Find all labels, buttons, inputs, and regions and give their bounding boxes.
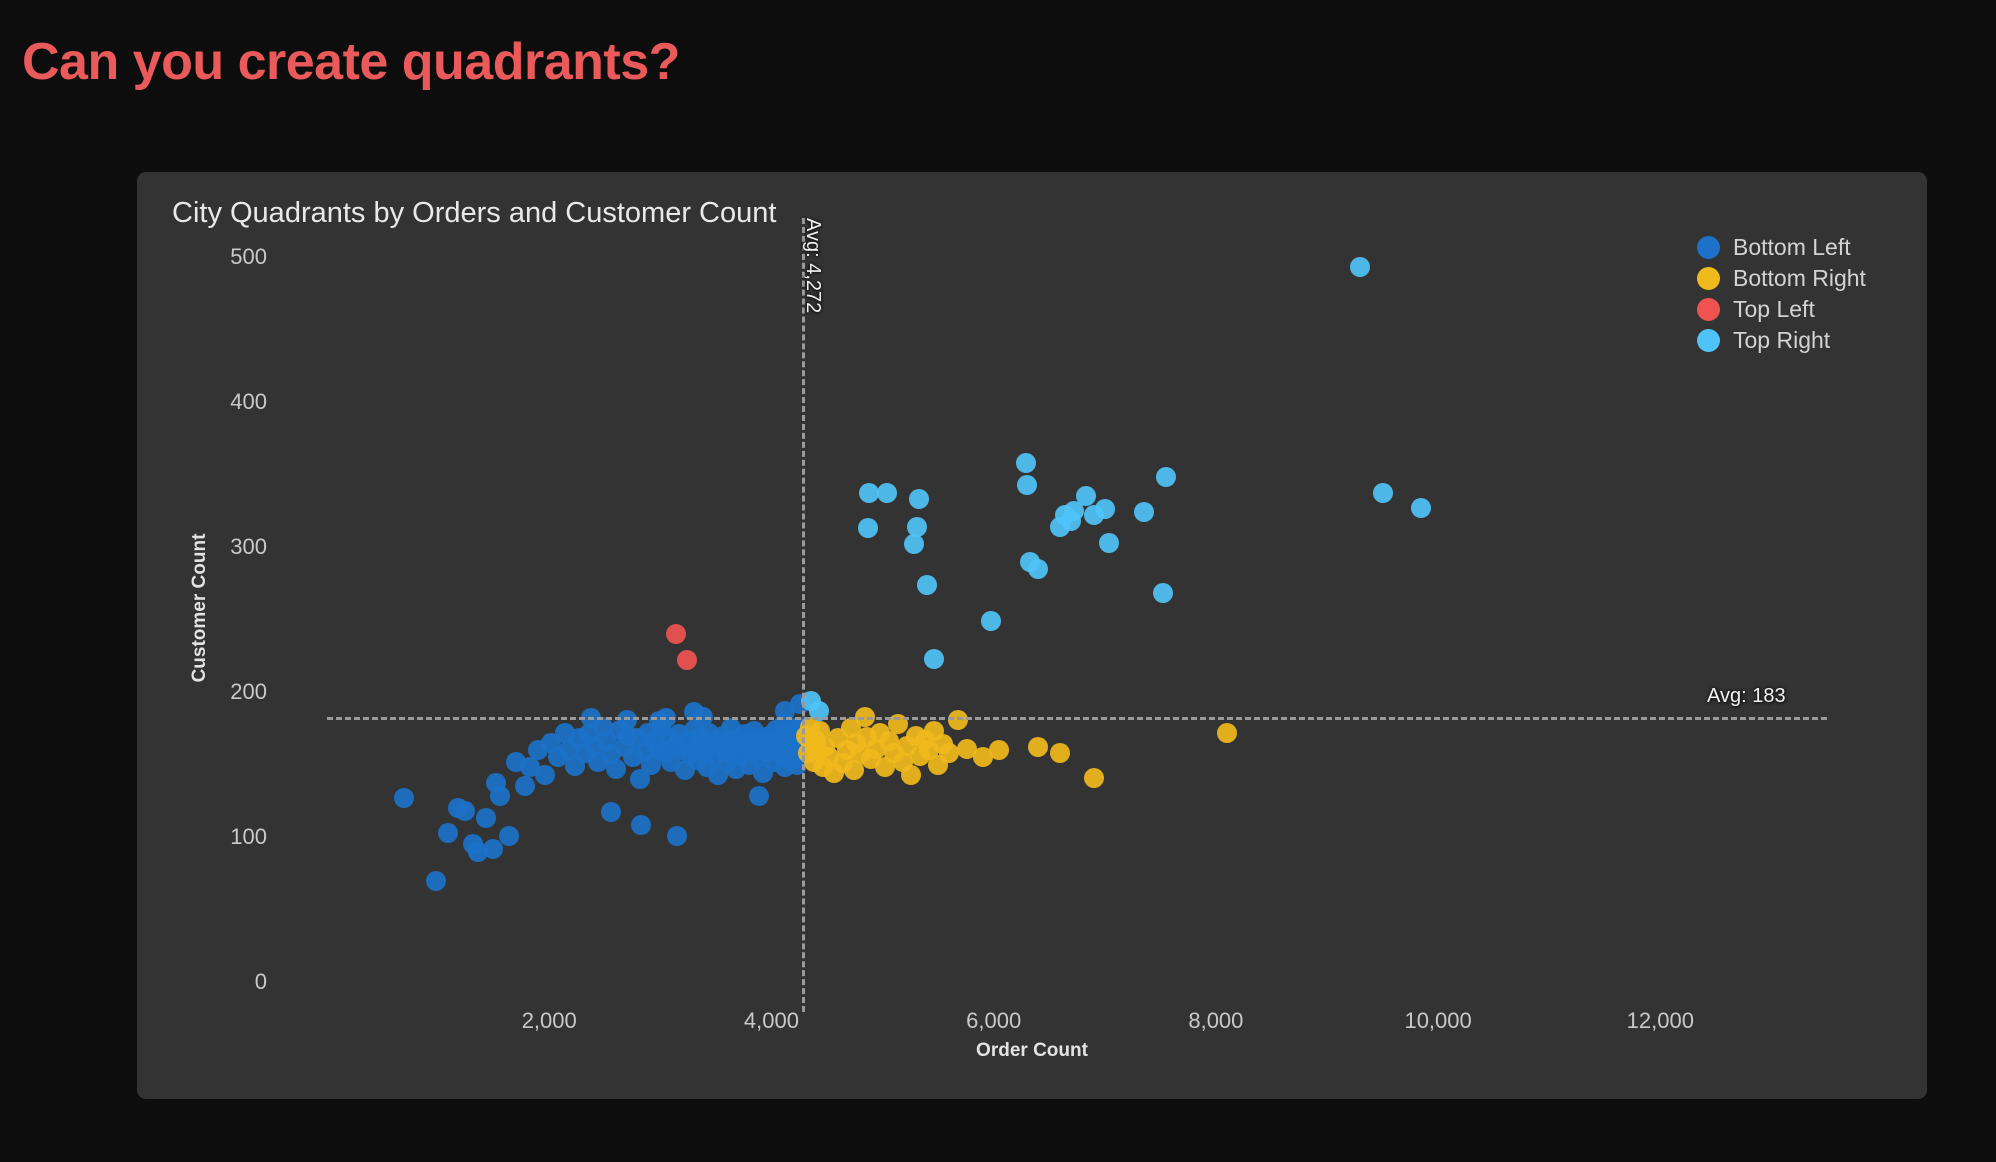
- scatter-point: [907, 517, 927, 537]
- scatter-point: [601, 802, 621, 822]
- scatter-point: [476, 808, 496, 828]
- avg-customer-count-reference-line: [327, 717, 1827, 720]
- scatter-point: [1017, 475, 1037, 495]
- scatter-point: [438, 823, 458, 843]
- chart-card: City Quadrants by Orders and Customer Co…: [137, 172, 1927, 1099]
- scatter-point: [917, 575, 937, 595]
- x-tick-6,000: 6,000: [914, 1008, 1074, 1034]
- legend-item-top-right[interactable]: Top Right: [1697, 325, 1866, 356]
- scatter-point: [483, 839, 503, 859]
- scatter-point: [901, 765, 921, 785]
- legend-item-top-left[interactable]: Top Left: [1697, 294, 1866, 325]
- avg-customer-count-label: Avg: 183: [1707, 685, 1786, 708]
- scatter-point: [515, 776, 535, 796]
- scatter-point: [909, 489, 929, 509]
- legend-item-label: Bottom Left: [1733, 234, 1851, 261]
- scatter-point: [1156, 467, 1176, 487]
- scatter-point: [981, 611, 1001, 631]
- legend-item-bottom-right[interactable]: Bottom Right: [1697, 263, 1866, 294]
- scatter-point: [535, 765, 555, 785]
- scatter-point: [877, 483, 897, 503]
- scatter-point: [1373, 483, 1393, 503]
- legend-swatch-icon: [1697, 267, 1720, 290]
- scatter-point: [1095, 499, 1115, 519]
- scatter-point: [1028, 737, 1048, 757]
- scatter-point: [1099, 533, 1119, 553]
- y-tick-100: 100: [147, 824, 267, 850]
- scatter-point: [666, 624, 686, 644]
- scatter-point: [667, 826, 687, 846]
- legend-item-label: Bottom Right: [1733, 265, 1866, 292]
- y-tick-0: 0: [147, 969, 267, 995]
- legend-item-label: Top Left: [1733, 296, 1815, 323]
- scatter-point: [490, 786, 510, 806]
- scatter-point: [1016, 453, 1036, 473]
- avg-order-count-label: Avg: 4,272: [801, 218, 824, 313]
- legend-item-bottom-left[interactable]: Bottom Left: [1697, 232, 1866, 263]
- scatter-point: [631, 815, 651, 835]
- scatter-point: [749, 786, 769, 806]
- x-tick-12,000: 12,000: [1580, 1008, 1740, 1034]
- scatter-point: [1076, 486, 1096, 506]
- x-tick-2,000: 2,000: [469, 1008, 629, 1034]
- avg-order-count-reference-line: [802, 218, 805, 1012]
- scatter-point: [455, 801, 475, 821]
- scatter-point: [904, 534, 924, 554]
- chart-legend[interactable]: Bottom LeftBottom RightTop LeftTop Right: [1697, 232, 1866, 356]
- scatter-point: [394, 788, 414, 808]
- y-tick-400: 400: [147, 389, 267, 415]
- y-tick-300: 300: [147, 534, 267, 560]
- y-tick-200: 200: [147, 679, 267, 705]
- y-tick-500: 500: [147, 244, 267, 270]
- page-title: Can you create quadrants?: [22, 32, 680, 92]
- legend-swatch-icon: [1697, 298, 1720, 321]
- legend-swatch-icon: [1697, 236, 1720, 259]
- legend-item-label: Top Right: [1733, 327, 1830, 354]
- x-axis-label: Order Count: [137, 1040, 1927, 1062]
- scatter-point: [1411, 498, 1431, 518]
- scatter-point: [1134, 502, 1154, 522]
- scatter-point: [677, 650, 697, 670]
- scatter-point: [1217, 723, 1237, 743]
- x-tick-10,000: 10,000: [1358, 1008, 1518, 1034]
- x-tick-8,000: 8,000: [1136, 1008, 1296, 1034]
- scatter-point: [1350, 257, 1370, 277]
- scatter-point: [924, 649, 944, 669]
- scatter-point: [1084, 768, 1104, 788]
- legend-swatch-icon: [1697, 329, 1720, 352]
- scatter-point: [858, 518, 878, 538]
- x-tick-4,000: 4,000: [691, 1008, 851, 1034]
- scatter-point: [1050, 743, 1070, 763]
- scatter-plot-area[interactable]: Customer Count Order Count 0100200300400…: [137, 172, 1927, 1099]
- scatter-point: [1153, 583, 1173, 603]
- scatter-point: [499, 826, 519, 846]
- scatter-point: [426, 871, 446, 891]
- scatter-point: [989, 740, 1009, 760]
- scatter-point: [1028, 559, 1048, 579]
